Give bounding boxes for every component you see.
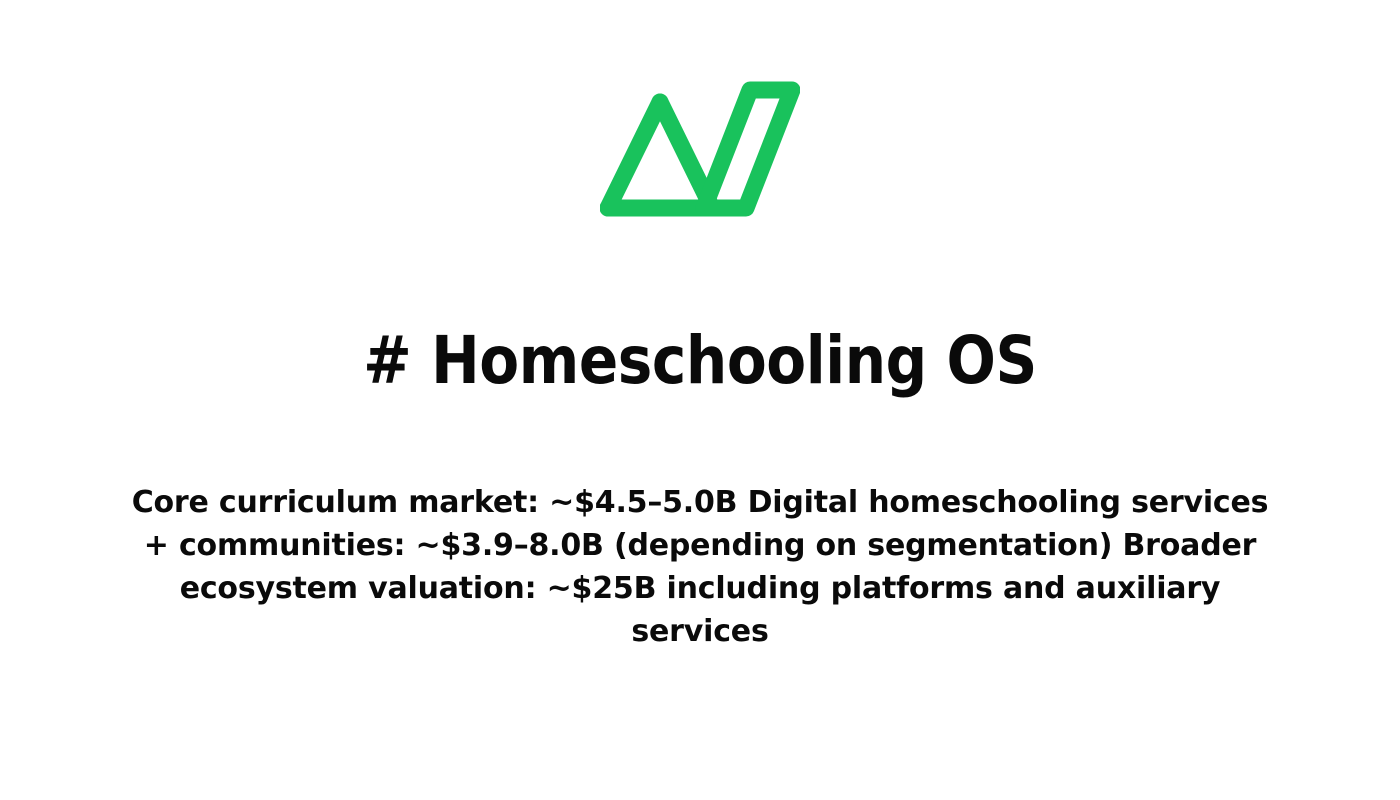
brand-n-mark-icon [600, 80, 800, 232]
body-paragraph: Core curriculum market: ~$4.5–5.0B Digit… [120, 481, 1280, 653]
page-title: # Homeschooling OS [84, 325, 1316, 396]
logo-container [0, 80, 1400, 232]
slide-canvas: # Homeschooling OS Core curriculum marke… [0, 0, 1400, 800]
